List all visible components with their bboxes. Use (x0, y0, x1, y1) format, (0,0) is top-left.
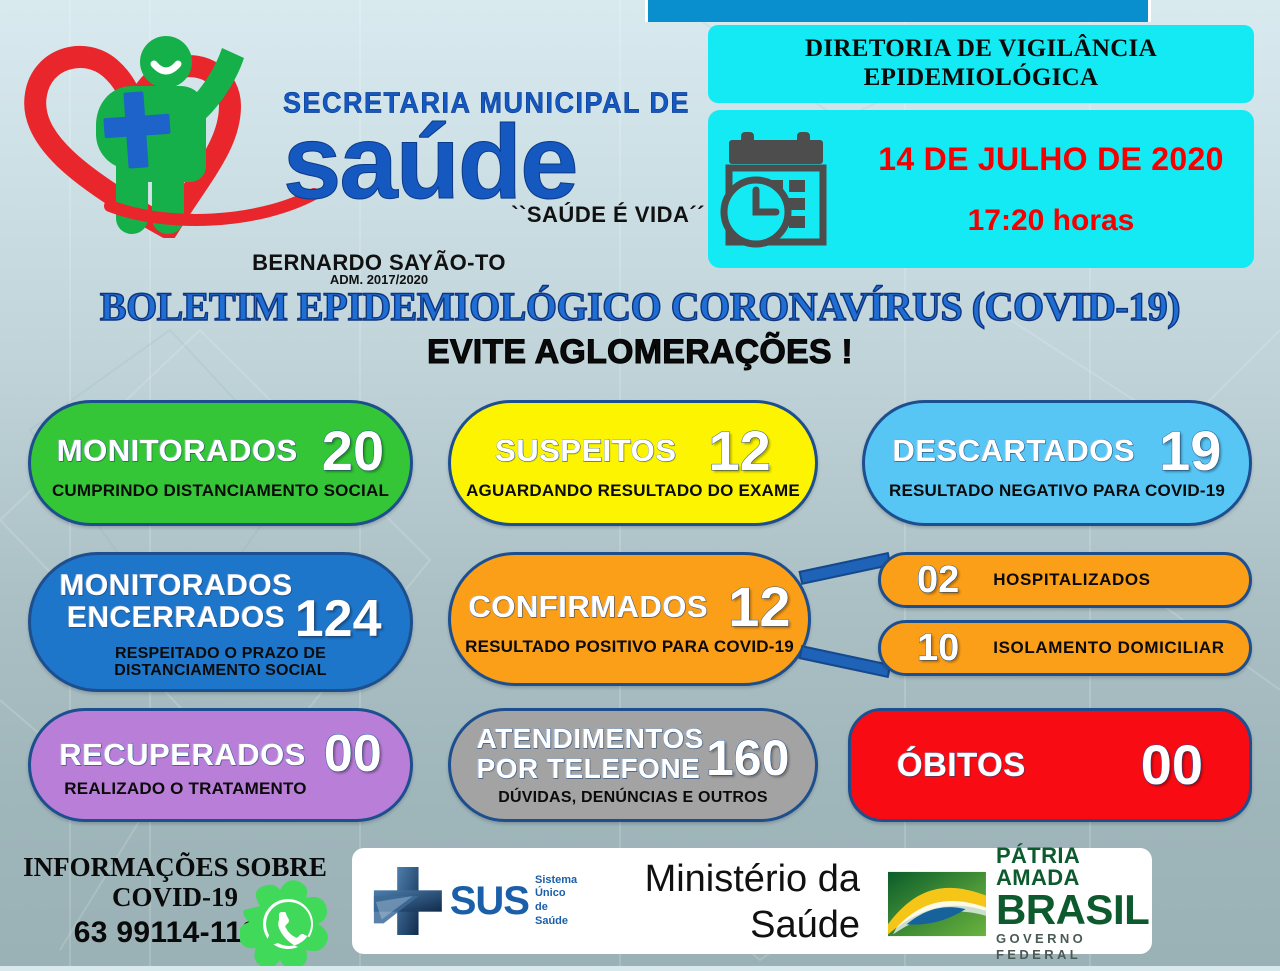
covid-info-line1: INFORMAÇÕES SOBRE (10, 852, 340, 882)
stat-sublabel-encerrados-line1: RESPEITADO O PRAZO DE (31, 645, 410, 662)
stat-card-confirmados: CONFIRMADOS 12 RESULTADO POSITIVO PARA C… (448, 552, 811, 686)
stat-label-encerrados-line1: MONITORADOS (59, 570, 292, 602)
stat-value-descartados: 19 (1159, 426, 1221, 476)
stat-card-obitos: ÓBITOS 00 (848, 708, 1252, 822)
stat-sublabel-encerrados-line2: DISTANCIAMENTO SOCIAL (31, 662, 410, 679)
stat-value-recuperados: 00 (324, 731, 382, 778)
stat-value-atendimentos: 160 (706, 736, 789, 781)
stat-card-hospitalizados: 02 HOSPITALIZADOS (878, 552, 1252, 608)
whatsapp-icon[interactable] (240, 880, 336, 966)
stat-label-recuperados: RECUPERADOS (59, 739, 306, 770)
ministerio-saude-text: Ministério da Saúde (560, 856, 860, 949)
brasil-government-logo: PÁTRIA AMADA BRASIL GOVERNO FEDERAL (888, 862, 1150, 946)
sus-wordmark: SUS (450, 881, 529, 921)
stat-value-confirmados: 12 (728, 582, 790, 632)
page-subtitle: EVITE AGLOMERAÇÕES ! (0, 333, 1280, 372)
diretoria-vigilancia-box: DIRETORIA DE VIGILÂNCIA EPIDEMIOLÓGICA (708, 25, 1254, 103)
stat-value-isolamento: 10 (917, 631, 959, 665)
calendar-clock-icon (708, 128, 858, 250)
ministerio-line2: Saúde (560, 902, 860, 948)
stat-card-suspeitos: SUSPEITOS 12 AGUARDANDO RESULTADO DO EXA… (448, 400, 818, 526)
date-time-box: 14 DE JULHO DE 2020 17:20 horas (708, 110, 1254, 268)
top-blue-bar (645, 0, 1151, 22)
stat-card-monitorados: MONITORADOS 20 CUMPRINDO DISTANCIAMENTO … (28, 400, 413, 526)
logo-saude-word: saúde (283, 115, 713, 212)
stat-label-atendimentos-line1: ATENDIMENTOS (477, 724, 704, 754)
stat-card-recuperados: RECUPERADOS 00 REALIZADO O TRATAMENTO (28, 708, 413, 822)
secretaria-logo: SECRETARIA MUNICIPAL DE saúde ``SAÚDE É … (18, 28, 708, 276)
sus-logo: SUS Sistema Único de Saúde (370, 862, 580, 940)
stat-label-atendimentos-line2: POR TELEFONE (477, 754, 701, 784)
stat-sublabel-suspeitos: AGUARDANDO RESULTADO DO EXAME (451, 482, 815, 500)
stat-card-isolamento-domiciliar: 10 ISOLAMENTO DOMICILIAR (878, 620, 1252, 676)
stat-label-suspeitos: SUSPEITOS (495, 435, 676, 466)
stat-value-obitos: 00 (1141, 740, 1203, 790)
stat-label-encerrados-line2: ENCERRADOS (67, 602, 285, 634)
stat-value-hospitalizados: 02 (917, 563, 959, 597)
stat-value-monitorados: 20 (322, 426, 384, 476)
brasil-line3: GOVERNO FEDERAL (996, 931, 1150, 962)
stat-label-obitos: ÓBITOS (897, 748, 1026, 781)
stat-sublabel-recuperados: REALIZADO O TRATAMENTO (31, 780, 340, 798)
heart-person-logo-icon (18, 28, 318, 238)
stat-value-encerrados: 124 (295, 596, 382, 643)
sus-cross-icon (370, 862, 446, 940)
brasil-flag-icon (888, 866, 986, 942)
stat-sublabel-monitorados: CUMPRINDO DISTANCIAMENTO SOCIAL (31, 482, 410, 500)
ministerio-line1: Ministério da (560, 856, 860, 902)
stat-sublabel-confirmados: RESULTADO POSITIVO PARA COVID-19 (451, 638, 808, 656)
stat-label-confirmados: CONFIRMADOS (468, 591, 708, 622)
bulletin-time: 17:20 horas (858, 204, 1244, 238)
stat-label-descartados: DESCARTADOS (893, 435, 1136, 466)
stat-value-suspeitos: 12 (709, 426, 771, 476)
logo-secretaria-line: SECRETARIA MUNICIPAL DE (283, 89, 713, 117)
stat-label-monitorados: MONITORADOS (57, 435, 298, 466)
diretoria-vigilancia-text: DIRETORIA DE VIGILÂNCIA EPIDEMIOLÓGICA (708, 35, 1254, 93)
stat-card-monitorados-encerrados: MONITORADOS ENCERRADOS 124 RESPEITADO O … (28, 552, 413, 692)
page-title: BOLETIM EPIDEMIOLÓGICO CORONAVÍRUS (COVI… (0, 283, 1280, 330)
brasil-line2: BRASIL (996, 889, 1150, 931)
bulletin-date: 14 DE JULHO DE 2020 (858, 141, 1244, 178)
stat-label-isolamento: ISOLAMENTO DOMICILIAR (993, 639, 1224, 657)
stat-sublabel-descartados: RESULTADO NEGATIVO PARA COVID-19 (865, 482, 1249, 500)
stat-card-atendimentos-telefone: ATENDIMENTOS POR TELEFONE 160 DÚVIDAS, D… (448, 708, 818, 822)
stat-sublabel-atendimentos: DÚVIDAS, DENÚNCIAS E OUTROS (451, 789, 815, 806)
stat-label-hospitalizados: HOSPITALIZADOS (993, 571, 1150, 589)
brasil-line1: PÁTRIA AMADA (996, 845, 1150, 889)
stat-card-descartados: DESCARTADOS 19 RESULTADO NEGATIVO PARA C… (862, 400, 1252, 526)
